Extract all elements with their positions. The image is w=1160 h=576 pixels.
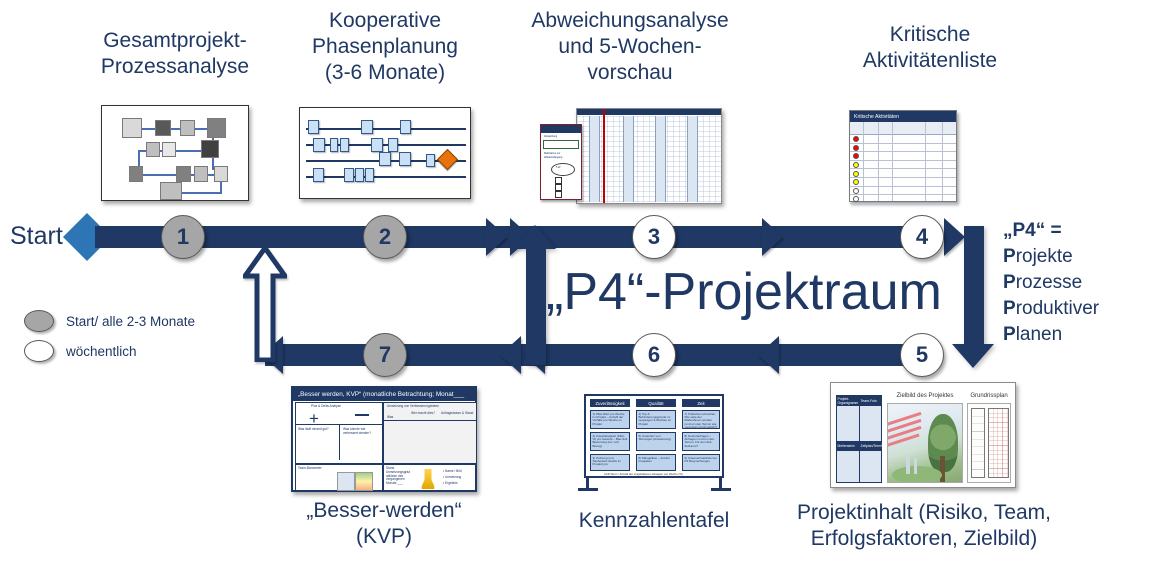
step-title-3-line-1: Abweichungsanalyse [510, 8, 750, 34]
kz-cell-4: 5) Ursachen von Störungen (Auswertung) [636, 432, 676, 451]
critical-list-header: Kritische Aktivitäten [850, 111, 956, 122]
legend-white-circle-icon [24, 340, 54, 362]
start-label: Start [10, 222, 63, 251]
kvp-right-col-1: Wer macht dies? [411, 412, 435, 416]
arrow-head-3-4 [762, 218, 783, 256]
pi-plan-caption: Grundrissplan [966, 393, 1012, 399]
step-title-1-line-2: Prozessanalyse [80, 54, 270, 80]
step-title-5-line-2: Erfolgsfaktoren, Zielbild) [768, 526, 1080, 552]
legend-item-1-label: wöchentlich [66, 344, 137, 359]
deviation-card: Abweichung Maßnahme zur Wiedererlangung … [540, 124, 582, 200]
step-title-7-line-2: (KVP) [268, 524, 500, 550]
kz-cell-7: 8) Nutzeranfragen – Anfragen rund um den… [682, 432, 720, 451]
p4-legend-heading: „P4“ = [1003, 218, 1153, 244]
step-node-1[interactable]: 1 [161, 215, 205, 259]
connector-up-left-hollow [243, 246, 287, 362]
step-node-5[interactable]: 5 [900, 333, 944, 377]
step-node-3[interactable]: 3 [632, 215, 676, 259]
step-node-1-number: 1 [177, 224, 189, 250]
kvp-board-header: „Besser werden, KVP“ (monatliche Betrach… [293, 388, 475, 401]
step-title-1: Gesamtprojekt- Prozessanalyse [80, 28, 270, 80]
kz-cell-1: 2) Zuverlässigkeit (PEA-%) pro Gewerk – … [590, 432, 630, 451]
kvp-right-title: Umsetzung von Verbesserungsideen [387, 405, 439, 409]
step-node-2[interactable]: 2 [363, 215, 407, 259]
step-title-5-line-1: Projektinhalt (Risiko, Team, [768, 500, 1080, 526]
page-title: „P4“-Projektraum [546, 262, 942, 322]
p4-legend-line-0: Projekte [1003, 244, 1153, 270]
kz-cell-6: 7) 5-Wochen-Vorschau: Wie viele der Maßn… [682, 410, 720, 429]
legend-gray-circle-icon [24, 310, 54, 332]
kvp-minus-icon [355, 414, 369, 416]
today-line [603, 109, 605, 203]
step-node-6[interactable]: 6 [632, 333, 676, 377]
pi-table-header-0: Projekt-Organigramm [836, 395, 859, 406]
pi-floorplan [967, 403, 1011, 483]
pi-table-header-3: Zeitplan/Termine [859, 441, 882, 451]
pi-table-header-2: Meilenstein [836, 441, 859, 451]
kz-col-header-1: Qualität [636, 399, 676, 407]
kvp-team-barometer: Team-Barometer [298, 467, 322, 471]
kz-col-header-0: Zuverlässigkeit [590, 399, 630, 407]
thumbnail-projektinhalt: Projekt-Organigramm Team-Foto Meilenstei… [830, 382, 1016, 488]
step-title-1-line-1: Gesamtprojekt- [80, 28, 270, 54]
thumbnail-critical-activities: Kritische Aktivitäten [849, 110, 957, 202]
thumbnail-deviation-and-weekgrid: Abweichung Maßnahme zur Wiedererlangung … [540, 108, 722, 208]
thumbnail-process-map [101, 105, 249, 201]
kvp-right-col-2: Anfragedatum & Stand [441, 412, 475, 416]
p4-legend-line-3: Planen [1003, 322, 1153, 348]
pi-table-header-1: Team-Foto [859, 395, 882, 406]
step-title-2-line-1: Kooperative [290, 8, 480, 34]
step-title-2-line-2: Phasenplanung [290, 34, 480, 60]
kz-cell-8: 9) Anwesenheitsliste bei P4 Besprechunge… [682, 454, 720, 471]
step-title-2-line-3: (3-6 Monate) [290, 60, 480, 86]
step-title-3-line-3: vorschau [510, 60, 750, 86]
step-node-3-number: 3 [648, 224, 660, 250]
kz-cell-3: 4) Top-5 Behinderungsgründe im vergangen… [636, 410, 676, 429]
pi-rendering-image [887, 403, 963, 483]
step-node-4[interactable]: 4 [900, 215, 944, 259]
arrow-head-1-2 [486, 218, 507, 256]
kvp-question-right: Was könnte wie verbessert werden? [343, 428, 381, 436]
step-node-7-number: 7 [379, 342, 391, 368]
step-title-3-line-2: und 5-Wochen- [510, 34, 750, 60]
step-node-7[interactable]: 7 [363, 333, 407, 377]
kz-cell-2: 3) Ordnung und Sauberkeit (Audits im Pro… [590, 454, 630, 471]
kvp-status-item-2: • Ergebnis [443, 482, 458, 486]
week-grid [576, 108, 722, 204]
step-title-7-line-1: „Besser-werden“ [268, 498, 500, 524]
kz-col-header-2: Zeit [682, 399, 720, 407]
kvp-question-left: Was läuft derzeit gut? [298, 428, 338, 432]
kvp-status-item-1: • Umsetzung [443, 476, 461, 480]
step-title-4: Kritische Aktivitätenliste [820, 22, 1040, 74]
connector-down-right [951, 226, 997, 368]
thumbnail-kennzahlentafel: Zuverlässigkeit Qualität Zeit 1) PEA-Wer… [578, 392, 730, 496]
kz-cell-5: 6) Mängelliste – Anzahl Freigaben [636, 454, 676, 471]
step-title-4-line-2: Aktivitätenliste [820, 48, 1040, 74]
thumbnail-kvp-board: „Besser werden, KVP“ (monatliche Betrach… [291, 386, 477, 492]
step-title-3: Abweichungsanalyse und 5-Wochen- vorscha… [510, 8, 750, 86]
step-title-4-line-1: Kritische [820, 22, 1040, 48]
p4-process-diagram: Gesamtprojekt- Prozessanalyse Kooperativ… [0, 0, 1160, 576]
step-title-7: „Besser-werden“ (KVP) [268, 498, 500, 550]
step-node-5-number: 5 [916, 342, 928, 368]
pi-image-caption: Zielbild des Projektes [887, 393, 963, 399]
kvp-status-item-0: • Name / Bild [443, 470, 462, 474]
step-node-4-number: 4 [916, 224, 928, 250]
milestone-diamond-icon [437, 149, 458, 170]
step-node-6-number: 6 [648, 342, 660, 368]
p4-legend: „P4“ = Projekte Prozesse Produktiver Pla… [1003, 218, 1153, 348]
kz-footnote: ACD Wert = Anzahl der eingehaltenen Zusa… [604, 472, 683, 476]
p4-legend-line-1: Prozesse [1003, 270, 1153, 296]
kz-cell-0: 1) PEA-Wert pro Woche im Projekt – Anzah… [590, 410, 630, 429]
p4-legend-line-2: Produktiver [1003, 296, 1153, 322]
thumbnail-phase-plan-gantt [299, 107, 471, 199]
legend-item-0: Start/ alle 2-3 Monate [24, 310, 195, 332]
step-title-5: Projektinhalt (Risiko, Team, Erfolgsfakt… [768, 500, 1080, 552]
kvp-status-title: Stand Umsetzungsgrad ablösen des vergang… [386, 467, 414, 486]
legend-item-0-label: Start/ alle 2-3 Monate [66, 314, 195, 329]
legend-item-1: wöchentlich [24, 340, 137, 362]
step-node-2-number: 2 [379, 224, 391, 250]
arrow-head-5-6 [758, 336, 779, 374]
step-title-2: Kooperative Phasenplanung (3-6 Monate) [290, 8, 480, 86]
step-title-6: Kennzahlentafel [548, 508, 760, 534]
